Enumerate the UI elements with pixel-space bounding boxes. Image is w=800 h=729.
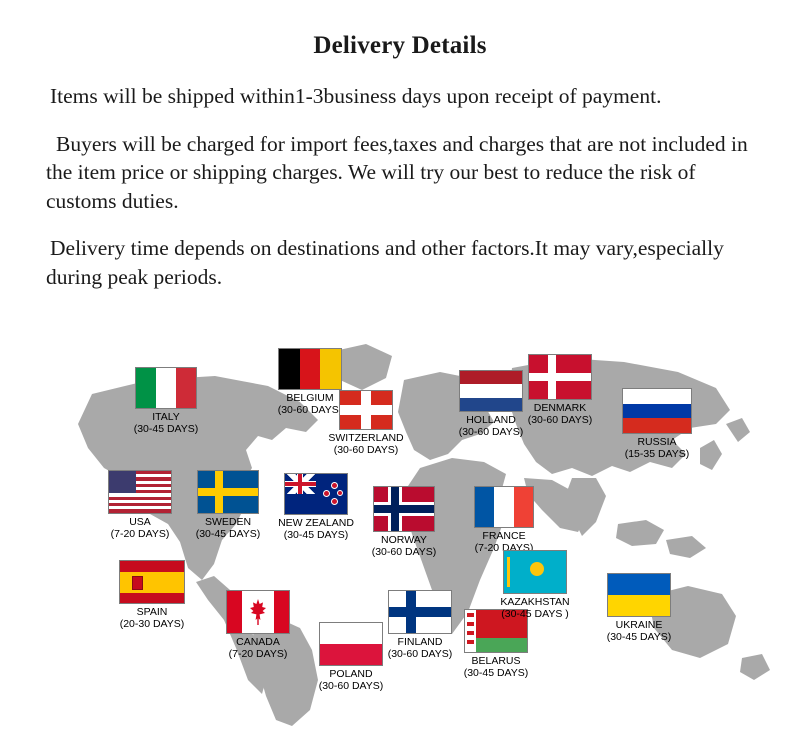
import-fees-paragraph: Buyers will be charged for import fees,t…	[46, 130, 754, 216]
delivery-time-paragraph: Delivery time depends on destinations an…	[46, 234, 754, 291]
flag-label-country: DENMARK	[512, 402, 608, 414]
flag-label-country: RUSSIA	[607, 436, 707, 448]
denmark-flag	[528, 354, 592, 400]
flag-switzerland: SWITZERLAND (30-60 DAYS)	[316, 390, 416, 457]
flag-label-country: POLAND	[305, 668, 397, 680]
flag-norway: NORWAY (30-60 DAYS)	[356, 486, 452, 559]
ukraine-flag	[607, 573, 671, 617]
france-flag	[474, 486, 534, 528]
flag-label-country: SWEDEN	[180, 516, 276, 528]
flag-spain: SPAIN (20-30 DAYS)	[104, 560, 200, 631]
maple-leaf-icon	[250, 599, 266, 625]
flag-label-days: (30-60 DAYS)	[443, 426, 539, 438]
norway-flag	[373, 486, 435, 532]
spain-flag	[119, 560, 185, 604]
flag-label-country: BELARUS	[450, 655, 542, 667]
flag-label-country: KAZAKHSTAN	[489, 596, 581, 608]
flag-sweden: SWEDEN (30-45 DAYS)	[180, 470, 276, 541]
switzerland-flag	[339, 390, 393, 430]
flag-ukraine: UKRAINE (30-45 DAYS)	[593, 573, 685, 644]
page-title: Delivery Details	[0, 32, 800, 60]
belgium-flag	[278, 348, 342, 390]
usa-flag	[108, 470, 172, 514]
flag-label-days: (30-45 DAYS)	[593, 631, 685, 643]
flag-italy: ITALY (30-45 DAYS)	[118, 367, 214, 436]
flag-label-country: FRANCE	[459, 530, 549, 542]
flag-label-days: (7-20 DAYS)	[213, 648, 303, 660]
flag-label-days: (30-45 DAYS)	[266, 529, 366, 541]
flag-label-days: (30-45 DAYS)	[118, 423, 214, 435]
delivery-map: BELGIUM (30-60 DAYS) ITALY (30-45 DAYS) …	[0, 328, 800, 729]
flag-label-days: (30-45 DAYS)	[180, 528, 276, 540]
flag-label-days: (7-20 DAYS)	[92, 528, 188, 540]
flag-denmark: DENMARK (30-60 DAYS)	[512, 354, 608, 427]
flag-label-country: ITALY	[118, 411, 214, 423]
flag-label-days: (30-60 DAYS)	[316, 444, 416, 456]
flag-label-days: (30-60 DAYS)	[356, 546, 452, 558]
flag-kazakhstan: KAZAKHSTAN (30-45 DAYS )	[489, 550, 581, 621]
flag-new-zealand: NEW ZEALAND (30-45 DAYS)	[266, 473, 366, 542]
flag-label-country: SWITZERLAND	[316, 432, 416, 444]
flag-russia: RUSSIA (15-35 DAYS)	[607, 388, 707, 461]
kazakhstan-flag	[503, 550, 567, 594]
flag-label-country: USA	[92, 516, 188, 528]
flag-label-country: SPAIN	[104, 606, 200, 618]
finland-flag	[388, 590, 452, 634]
flag-label-days: (30-45 DAYS)	[450, 667, 542, 679]
flag-label-days: (30-45 DAYS )	[489, 608, 581, 620]
flag-label-days: (30-60 DAYS)	[512, 414, 608, 426]
italy-flag	[135, 367, 197, 409]
flag-usa: USA (7-20 DAYS)	[92, 470, 188, 541]
flag-france: FRANCE (7-20 DAYS)	[459, 486, 549, 555]
flag-label-days: (20-30 DAYS)	[104, 618, 200, 630]
new-zealand-flag	[284, 473, 348, 515]
flag-label-country: NEW ZEALAND	[266, 517, 366, 529]
flag-label-country: NORWAY	[356, 534, 452, 546]
flag-label-days: (15-35 DAYS)	[607, 448, 707, 460]
flag-label-country: UKRAINE	[593, 619, 685, 631]
shipping-paragraph: Items will be shipped within1-3business …	[46, 82, 754, 111]
russia-flag	[622, 388, 692, 434]
flag-canada: CANADA (7-20 DAYS)	[213, 590, 303, 661]
canada-flag	[226, 590, 290, 634]
sweden-flag	[197, 470, 259, 514]
flag-label-days: (30-60 DAYS)	[305, 680, 397, 692]
flag-label-country: CANADA	[213, 636, 303, 648]
